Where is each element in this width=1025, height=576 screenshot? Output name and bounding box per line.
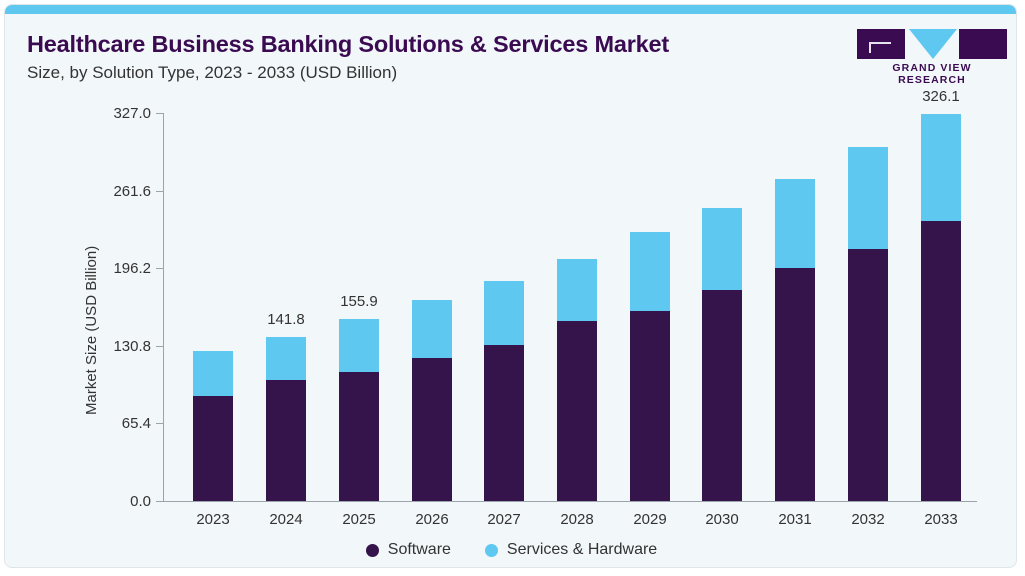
legend-item-services-hardware[interactable]: Services & Hardware: [485, 541, 657, 559]
chart-card: Healthcare Business Banking Solutions & …: [4, 4, 1017, 568]
bar-segment-services-hardware[interactable]: [339, 319, 379, 372]
x-axis-tick-label-2031: 2031: [755, 511, 835, 528]
legend-item-software[interactable]: Software: [366, 541, 451, 559]
y-axis-tick-label: 130.8: [81, 338, 151, 355]
y-axis-tick-label: 261.6: [81, 183, 151, 200]
bar-value-label-2033: 326.1: [896, 88, 986, 105]
x-axis-tick-label-2026: 2026: [392, 511, 472, 528]
bar-segment-services-hardware[interactable]: [484, 281, 524, 345]
y-axis-tick-mark: [156, 346, 163, 347]
y-axis-tick-label: 0.0: [81, 493, 151, 510]
legend-label: Services & Hardware: [507, 541, 657, 559]
bar-stack-2025[interactable]: [339, 319, 379, 501]
bar-stack-2028[interactable]: [557, 259, 597, 501]
bar-stack-2023[interactable]: [193, 351, 233, 501]
y-axis-tick-mark: [156, 423, 163, 424]
bar-stack-2026[interactable]: [412, 300, 452, 501]
x-axis-tick-label-2023: 2023: [173, 511, 253, 528]
x-axis-tick-label-2024: 2024: [246, 511, 326, 528]
bar-segment-services-hardware[interactable]: [630, 232, 670, 311]
bar-segment-services-hardware[interactable]: [921, 114, 961, 221]
bar-segment-software[interactable]: [339, 372, 379, 501]
y-axis-tick-mark: [156, 113, 163, 114]
bar-stack-2029[interactable]: [630, 232, 670, 501]
x-axis-tick-label-2025: 2025: [319, 511, 399, 528]
bar-segment-software[interactable]: [702, 290, 742, 501]
legend-swatch-icon: [485, 544, 498, 557]
y-axis-tick-label: 327.0: [81, 105, 151, 122]
bar-segment-software[interactable]: [848, 249, 888, 501]
y-axis-tick-label: 65.4: [81, 415, 151, 432]
x-axis-tick-label-2032: 2032: [828, 511, 908, 528]
bar-stack-2032[interactable]: [848, 147, 888, 501]
bar-segment-software[interactable]: [630, 311, 670, 501]
bar-segment-software[interactable]: [775, 268, 815, 501]
bar-segment-services-hardware[interactable]: [702, 208, 742, 290]
x-axis-tick-label-2028: 2028: [537, 511, 617, 528]
y-axis-tick-mark: [156, 501, 163, 502]
bar-segment-software[interactable]: [412, 358, 452, 501]
y-axis-tick-mark: [156, 191, 163, 192]
bar-chart-plot: Market Size (USD Billion) 0.065.4130.819…: [5, 5, 1017, 568]
x-axis-tick-label-2030: 2030: [682, 511, 762, 528]
x-axis-line: [163, 501, 977, 502]
bar-stack-2030[interactable]: [702, 208, 742, 501]
y-axis-line: [163, 113, 164, 502]
bar-value-label-2025: 155.9: [314, 293, 404, 310]
bar-segment-software[interactable]: [484, 345, 524, 501]
x-axis-tick-label-2033: 2033: [901, 511, 981, 528]
bar-value-label-2024: 141.8: [241, 311, 331, 328]
bar-stack-2027[interactable]: [484, 281, 524, 501]
legend-swatch-icon: [366, 544, 379, 557]
x-axis-tick-label-2029: 2029: [610, 511, 690, 528]
bar-segment-software[interactable]: [557, 321, 597, 501]
bar-segment-services-hardware[interactable]: [557, 259, 597, 321]
bar-stack-2033[interactable]: [921, 114, 961, 501]
y-axis-tick-label: 196.2: [81, 260, 151, 277]
bar-segment-services-hardware[interactable]: [193, 351, 233, 395]
chart-legend: SoftwareServices & Hardware: [5, 541, 1017, 559]
x-axis-tick-label-2027: 2027: [464, 511, 544, 528]
bar-segment-software[interactable]: [193, 396, 233, 501]
y-axis-tick-mark: [156, 268, 163, 269]
bar-segment-software[interactable]: [266, 380, 306, 501]
bar-stack-2024[interactable]: [266, 337, 306, 501]
legend-label: Software: [388, 541, 451, 559]
bar-segment-services-hardware[interactable]: [412, 300, 452, 358]
bar-segment-services-hardware[interactable]: [266, 337, 306, 380]
bar-segment-software[interactable]: [921, 221, 961, 501]
bar-segment-services-hardware[interactable]: [848, 147, 888, 248]
bar-segment-services-hardware[interactable]: [775, 179, 815, 268]
bar-stack-2031[interactable]: [775, 179, 815, 501]
